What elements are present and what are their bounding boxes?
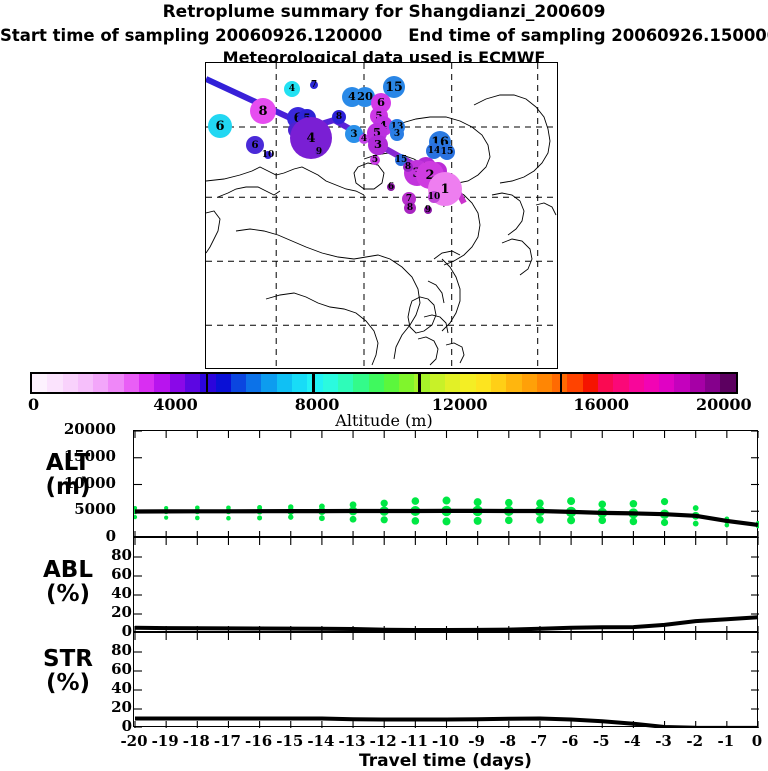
plume-bubble: 4: [290, 117, 332, 159]
alt-spread-marker: [598, 500, 606, 508]
y-tick-label: 15000: [30, 449, 116, 464]
colorbar-swatch: [185, 374, 200, 392]
y-tick-label: 40: [46, 681, 132, 696]
colorbar-swatch: [476, 374, 491, 392]
page-title: Retroplume summary for Shangdianzi_20060…: [0, 2, 768, 22]
colorbar-swatch: [567, 374, 582, 392]
x-tick-label: 0: [737, 732, 768, 750]
colorbar-swatch: [353, 374, 368, 392]
alt-spread-marker: [412, 517, 420, 525]
alt-spread-marker: [412, 497, 420, 505]
y-tick-label: 60: [46, 567, 132, 582]
colorbar-swatch: [338, 374, 353, 392]
alt-spread-marker: [134, 515, 137, 519]
alt-spread-marker: [443, 497, 451, 505]
str-chart-panel[interactable]: [133, 632, 758, 727]
colorbar-divider: [418, 372, 421, 394]
y-tick-label: 20000: [30, 422, 116, 437]
alt-spread-marker: [195, 516, 200, 521]
y-tick-label: 10000: [30, 476, 116, 491]
colorbar-swatch: [537, 374, 552, 392]
colorbar-divider: [312, 372, 315, 394]
plume-bubble: 4: [284, 81, 300, 97]
y-tick-label: 20: [46, 605, 132, 620]
alt-spread-marker: [693, 521, 699, 527]
y-tick-label: 0: [46, 624, 132, 639]
alt-spread-marker: [661, 519, 668, 526]
colorbar-swatch: [139, 374, 154, 392]
colorbar-swatch: [629, 374, 644, 392]
colorbar-swatch: [261, 374, 276, 392]
colorbar-swatch: [414, 374, 429, 392]
colorbar-swatch: [369, 374, 384, 392]
y-tick-label: 20: [46, 700, 132, 715]
colorbar-swatch: [63, 374, 78, 392]
colorbar-swatch: [231, 374, 246, 392]
colorbar-swatch: [292, 374, 307, 392]
colorbar-swatch: [277, 374, 292, 392]
plume-bubble: 8: [404, 202, 416, 214]
alt-spread-marker: [630, 518, 638, 526]
colorbar-swatch: [154, 374, 169, 392]
x-axis-label: Travel time (days): [133, 751, 758, 771]
colorbar-swatch: [720, 374, 735, 392]
colorbar-swatch: [399, 374, 414, 392]
start-time-text: Start time of sampling 20060926.120000: [0, 26, 382, 45]
plume-bubble: 5: [370, 155, 380, 165]
end-time-text: End time of sampling 20060926.150000: [408, 26, 768, 45]
colorbar-swatch: [674, 374, 689, 392]
colorbar-swatch: [705, 374, 720, 392]
y-tick-label: 80: [46, 548, 132, 563]
plume-bubble: 6: [208, 114, 232, 138]
colorbar-swatch: [307, 374, 322, 392]
alt-spread-marker: [319, 515, 325, 521]
plume-bubble: 3: [390, 127, 404, 141]
alt-spread-marker: [164, 516, 168, 520]
alt-spread-marker: [288, 514, 293, 519]
colorbar-swatch: [522, 374, 537, 392]
colorbar-swatch: [491, 374, 506, 392]
alt-spread-marker: [381, 500, 388, 507]
colorbar-swatch: [644, 374, 659, 392]
alt-spread-marker: [567, 516, 575, 524]
abl-chart-graphics: [134, 538, 759, 633]
y-tick-label: 0: [30, 529, 116, 544]
colorbar-swatch: [170, 374, 185, 392]
y-tick-label: 60: [46, 662, 132, 677]
colorbar-swatch: [445, 374, 460, 392]
colorbar-swatch: [323, 374, 338, 392]
alt-spread-marker: [536, 516, 544, 524]
plume-bubble: 3: [368, 135, 388, 155]
colorbar-divider: [206, 372, 209, 394]
colorbar-swatch: [613, 374, 628, 392]
plume-bubble: 8: [250, 98, 276, 124]
alt-spread-marker: [536, 499, 544, 507]
alt-spread-marker: [474, 517, 482, 525]
colorbar-divider: [560, 372, 563, 394]
alt-spread-marker: [257, 515, 262, 520]
colorbar-swatch: [430, 374, 445, 392]
y-tick-label: 5000: [30, 502, 116, 517]
abl-chart-panel[interactable]: [133, 537, 758, 632]
retroplume-map[interactable]: 6487610656498420341565413353516141515223…: [205, 62, 558, 369]
alt-spread-marker: [567, 497, 575, 505]
altitude-colorbar[interactable]: [30, 372, 738, 394]
colorbar-swatch: [124, 374, 139, 392]
plume-bubble: 8: [332, 110, 346, 124]
plume-bubble: 8: [403, 162, 413, 172]
str-chart-graphics: [134, 633, 759, 728]
alt-spread-marker: [226, 516, 231, 521]
alt-spread-marker: [505, 517, 513, 525]
plume-bubble: 6: [387, 183, 395, 191]
colorbar-swatch: [216, 374, 231, 392]
alt-spread-marker: [350, 516, 357, 523]
plume-bubble: 9: [315, 148, 323, 156]
sampling-time-line: Start time of sampling 20060926.120000En…: [0, 26, 768, 45]
alt-spread-marker: [661, 498, 668, 505]
alt-spread-marker: [630, 500, 638, 508]
y-tick-label: 80: [46, 643, 132, 658]
colorbar-swatch: [690, 374, 705, 392]
colorbar-swatch: [598, 374, 613, 392]
colorbar-swatch: [93, 374, 108, 392]
colorbar-swatch: [47, 374, 62, 392]
colorbar-swatch: [108, 374, 123, 392]
alt-spread-marker: [474, 498, 482, 506]
colorbar-swatch: [583, 374, 598, 392]
colorbar-swatch: [659, 374, 674, 392]
plume-bubble: 7: [310, 81, 318, 89]
colorbar-swatch: [460, 374, 475, 392]
alt-spread-marker: [443, 517, 451, 525]
colorbar-swatch: [246, 374, 261, 392]
colorbar-swatch: [78, 374, 93, 392]
y-tick-label: 40: [46, 586, 132, 601]
alt-chart-graphics: [134, 431, 759, 538]
colorbar-swatch: [32, 374, 47, 392]
plume-bubble: 10: [428, 191, 440, 203]
alt-spread-marker: [693, 505, 699, 511]
colorbar-swatch: [506, 374, 521, 392]
plume-bubble: 15: [439, 144, 455, 160]
plume-bubble: 9: [424, 206, 432, 214]
alt-chart-panel[interactable]: [133, 430, 758, 537]
colorbar-swatch: [384, 374, 399, 392]
plume-bubble: 10: [264, 151, 272, 159]
alt-spread-marker: [505, 499, 513, 507]
alt-spread-marker: [381, 516, 388, 523]
